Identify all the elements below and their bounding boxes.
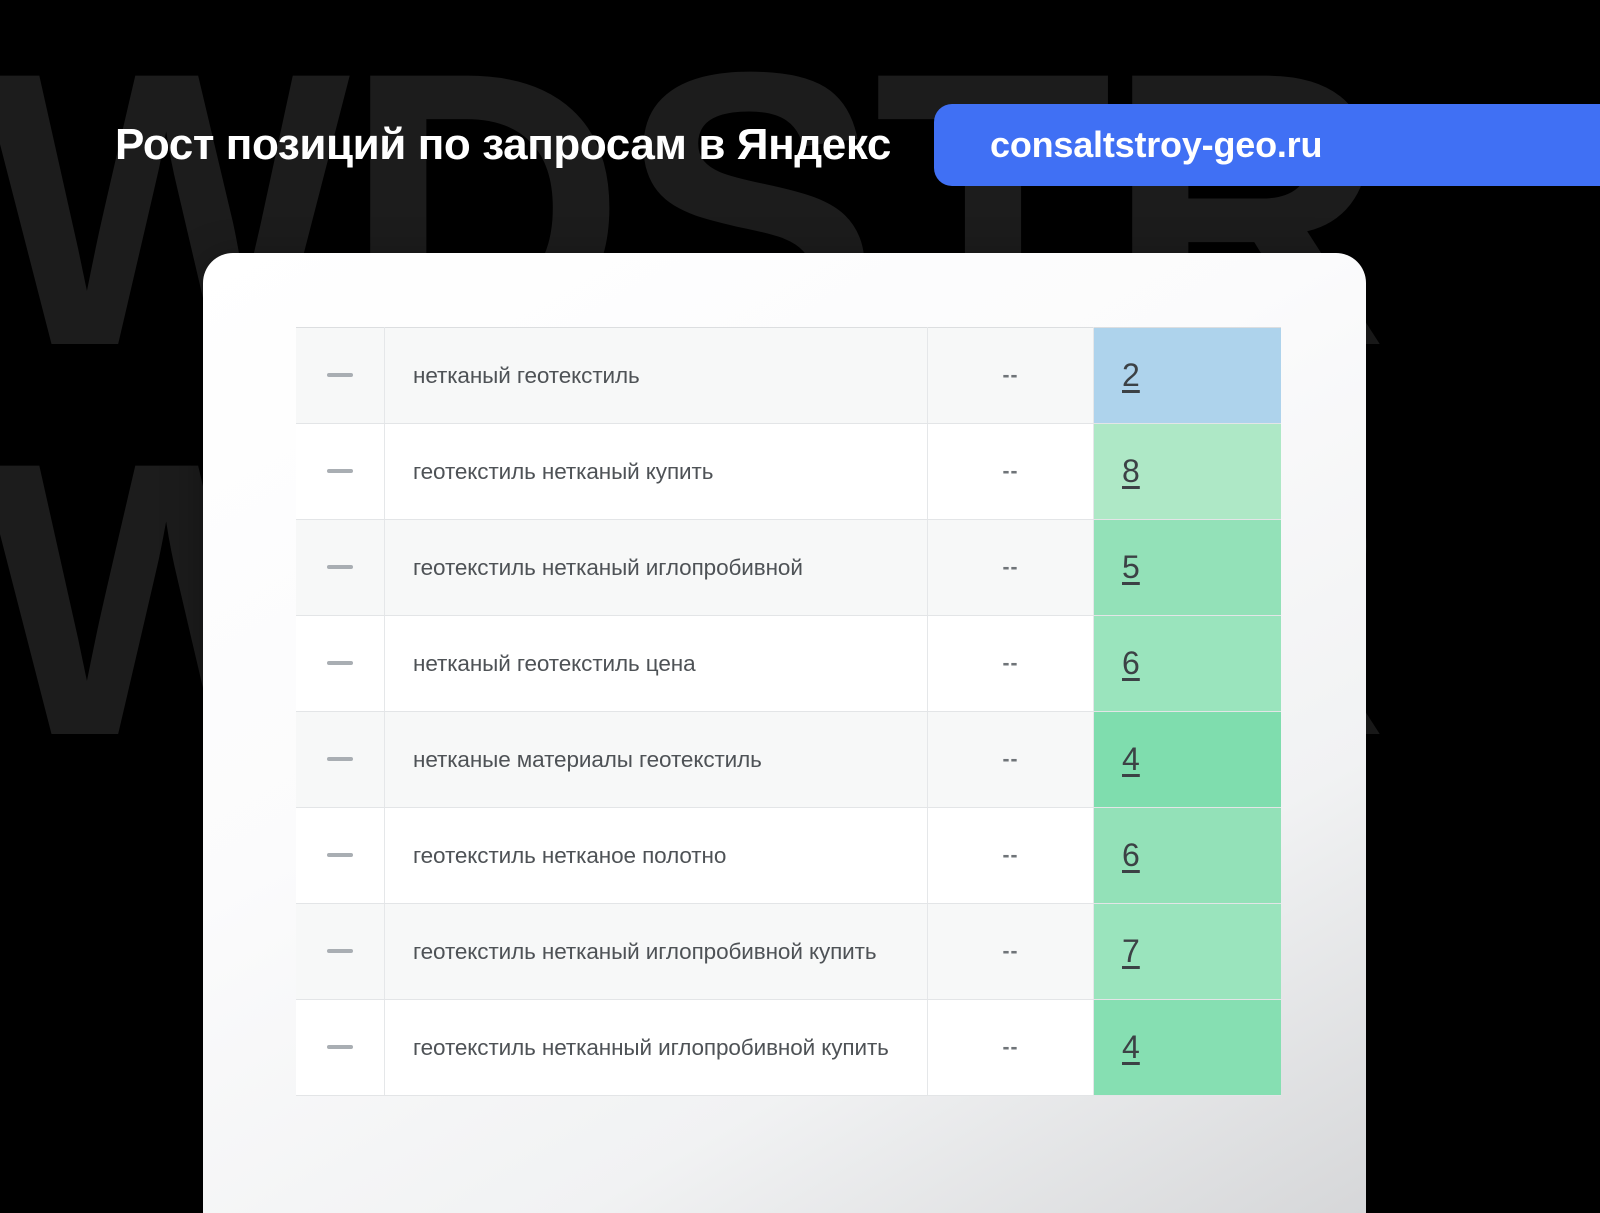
table-row[interactable]: геотекстиль нетканое полотно--6: [296, 808, 1281, 904]
table-row[interactable]: нетканый геотекстиль--2: [296, 328, 1281, 424]
dynamics-value: --: [1003, 652, 1019, 675]
position-cell[interactable]: 5: [1094, 520, 1282, 616]
position-cell[interactable]: 6: [1094, 616, 1282, 712]
dash-icon: [327, 373, 353, 377]
row-mark-cell: [296, 712, 385, 808]
screenshot-card: нетканый геотекстиль--2геотекстиль нетка…: [203, 253, 1366, 1213]
position-cell[interactable]: 8: [1094, 424, 1282, 520]
dash-icon: [327, 1045, 353, 1049]
query-text: геотекстиль нетканный иглопробивной купи…: [385, 1033, 927, 1063]
query-cell[interactable]: нетканый геотекстиль цена: [385, 616, 928, 712]
dynamics-cell: --: [928, 1000, 1094, 1096]
row-mark-cell: [296, 808, 385, 904]
query-text: геотекстиль нетканый купить: [385, 457, 927, 487]
dynamics-value: --: [1003, 1036, 1019, 1059]
position-cell[interactable]: 2: [1094, 328, 1282, 424]
dynamics-cell: --: [928, 520, 1094, 616]
row-mark-cell: [296, 616, 385, 712]
query-text: геотекстиль нетканое полотно: [385, 841, 927, 871]
table-row[interactable]: геотекстиль нетканый купить--8: [296, 424, 1281, 520]
header-bar: Рост позиций по запросам в Яндекс consal…: [0, 104, 1600, 186]
dash-icon: [327, 949, 353, 953]
table-row[interactable]: нетканые материалы геотекстиль--4: [296, 712, 1281, 808]
keyword-positions-table: нетканый геотекстиль--2геотекстиль нетка…: [296, 327, 1281, 1096]
dynamics-value: --: [1003, 364, 1019, 387]
page-title: Рост позиций по запросам в Яндекс: [115, 123, 891, 167]
domain-badge: consaltstroy-geo.ru: [934, 104, 1600, 186]
dynamics-value: --: [1003, 460, 1019, 483]
table-row[interactable]: нетканый геотекстиль цена--6: [296, 616, 1281, 712]
dynamics-cell: --: [928, 616, 1094, 712]
query-text: нетканый геотекстиль: [385, 361, 927, 391]
table-row[interactable]: геотекстиль нетканный иглопробивной купи…: [296, 1000, 1281, 1096]
query-text: геотекстиль нетканый иглопробивной купит…: [385, 937, 927, 967]
table-row[interactable]: геотекстиль нетканый иглопробивной купит…: [296, 904, 1281, 1000]
position-cell[interactable]: 6: [1094, 808, 1282, 904]
dynamics-value: --: [1003, 844, 1019, 867]
position-cell[interactable]: 4: [1094, 712, 1282, 808]
query-cell[interactable]: геотекстиль нетканый иглопробивной: [385, 520, 928, 616]
row-mark-cell: [296, 1000, 385, 1096]
position-value: 7: [1094, 933, 1281, 970]
position-value: 2: [1094, 357, 1281, 394]
position-value: 6: [1094, 645, 1281, 682]
dash-icon: [327, 661, 353, 665]
position-cell[interactable]: 7: [1094, 904, 1282, 1000]
dynamics-cell: --: [928, 808, 1094, 904]
row-mark-cell: [296, 424, 385, 520]
query-cell[interactable]: геотекстиль нетканое полотно: [385, 808, 928, 904]
dash-icon: [327, 757, 353, 761]
position-value: 8: [1094, 453, 1281, 490]
dynamics-value: --: [1003, 748, 1019, 771]
position-value: 4: [1094, 741, 1281, 778]
table-row[interactable]: геотекстиль нетканый иглопробивной--5: [296, 520, 1281, 616]
position-cell[interactable]: 4: [1094, 1000, 1282, 1096]
row-mark-cell: [296, 328, 385, 424]
dash-icon: [327, 853, 353, 857]
query-cell[interactable]: нетканый геотекстиль: [385, 328, 928, 424]
position-value: 6: [1094, 837, 1281, 874]
position-value: 5: [1094, 549, 1281, 586]
row-mark-cell: [296, 520, 385, 616]
dynamics-cell: --: [928, 328, 1094, 424]
dynamics-value: --: [1003, 940, 1019, 963]
dash-icon: [327, 565, 353, 569]
table-body: нетканый геотекстиль--2геотекстиль нетка…: [296, 328, 1281, 1096]
query-text: нетканый геотекстиль цена: [385, 649, 927, 679]
query-cell[interactable]: геотекстиль нетканый купить: [385, 424, 928, 520]
query-cell[interactable]: геотекстиль нетканый иглопробивной купит…: [385, 904, 928, 1000]
query-text: геотекстиль нетканый иглопробивной: [385, 553, 927, 583]
domain-badge-label: consaltstroy-geo.ru: [990, 124, 1322, 166]
dynamics-cell: --: [928, 904, 1094, 1000]
position-value: 4: [1094, 1029, 1281, 1066]
dynamics-cell: --: [928, 424, 1094, 520]
dynamics-cell: --: [928, 712, 1094, 808]
query-cell[interactable]: геотекстиль нетканный иглопробивной купи…: [385, 1000, 928, 1096]
query-text: нетканые материалы геотекстиль: [385, 745, 927, 775]
dash-icon: [327, 469, 353, 473]
row-mark-cell: [296, 904, 385, 1000]
dynamics-value: --: [1003, 556, 1019, 579]
query-cell[interactable]: нетканые материалы геотекстиль: [385, 712, 928, 808]
